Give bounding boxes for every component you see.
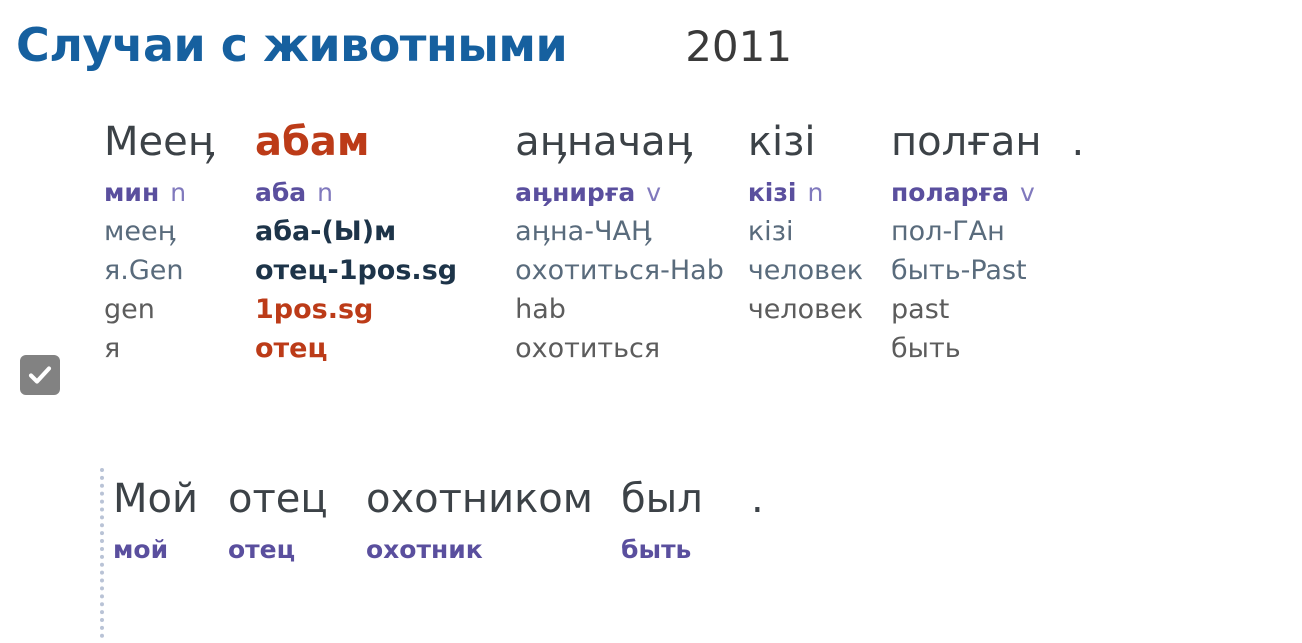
igt-translation: я — [104, 331, 215, 370]
igt-morphemes: мееӊ — [104, 214, 215, 253]
free-translation-token[interactable]: отец — [228, 468, 366, 530]
free-translation-token[interactable]: Мой — [113, 468, 228, 530]
igt-tag: past — [891, 292, 1041, 331]
igt-lemma-row[interactable]: мин n — [104, 176, 215, 214]
free-translation-token: . — [751, 468, 764, 530]
igt-pos-tag[interactable]: v — [1020, 176, 1035, 210]
check-icon — [27, 362, 53, 388]
free-translation-block: Мой отец охотником был . мой отец охотни… — [100, 468, 764, 638]
igt-translation — [748, 331, 863, 370]
igt-pos-tag[interactable]: n — [170, 176, 186, 210]
igt-surface[interactable]: кізі — [748, 118, 863, 176]
igt-lemma-row[interactable]: кізі n — [748, 176, 863, 214]
igt-column[interactable]: кізі кізі n кізі человек человек — [748, 118, 863, 370]
igt-pos-tag[interactable]: v — [646, 176, 661, 210]
row-select-checkbox[interactable] — [20, 355, 60, 395]
igt-morphemes: аба-(Ы)м — [255, 214, 457, 253]
igt-lemma-row[interactable]: аба n — [255, 176, 457, 214]
igt-pos-tag[interactable]: n — [807, 176, 823, 210]
igt-column-focused[interactable]: абам аба n аба-(Ы)м отец-1pos.sg 1pos.sg… — [255, 118, 457, 370]
igt-gloss: я.Gen — [104, 253, 215, 292]
page-title-bar: Случаи с животными 2011 — [16, 18, 792, 72]
igt-translation: быть — [891, 331, 1041, 370]
free-translation-gloss-line[interactable]: мой отец охотник быть — [113, 530, 764, 570]
igt-tag: gen — [104, 292, 215, 331]
igt-pos-tag[interactable]: n — [317, 176, 333, 210]
free-gloss-token[interactable]: охотник — [366, 530, 621, 570]
free-gloss-token[interactable]: мой — [113, 530, 228, 570]
igt-lemma[interactable]: мин — [104, 176, 159, 210]
igt-gloss: отец-1pos.sg — [255, 253, 457, 292]
igt-lemma-row[interactable]: аӊнирға v — [515, 176, 724, 214]
igt-surface: . — [1071, 118, 1084, 176]
free-gloss-token[interactable]: быть — [621, 530, 691, 570]
igt-surface[interactable]: Мееӊ — [104, 118, 215, 176]
igt-gloss: человек — [748, 253, 863, 292]
igt-surface[interactable]: полған — [891, 118, 1041, 176]
free-translation-token[interactable]: был — [621, 468, 751, 530]
igt-tag: 1pos.sg — [255, 292, 457, 331]
igt-column[interactable]: Мееӊ мин n мееӊ я.Gen gen я — [104, 118, 215, 370]
igt-morphemes: аӊна-ЧАӉ — [515, 214, 724, 253]
page-title: Случаи с животными — [16, 18, 567, 72]
igt-column[interactable]: аӊначаӊ аӊнирға v аӊна-ЧАӉ охотиться-Hab… — [515, 118, 724, 370]
igt-column-punctuation: . — [1071, 118, 1084, 176]
interlinear-glossed-text: Мееӊ мин n мееӊ я.Gen gen я абам аба n а… — [104, 118, 1084, 370]
igt-lemma[interactable]: кізі — [748, 176, 797, 210]
page-year: 2011 — [685, 22, 792, 71]
free-translation-surface-line[interactable]: Мой отец охотником был . — [113, 468, 764, 530]
igt-lemma[interactable]: поларға — [891, 176, 1009, 210]
igt-surface[interactable]: абам — [255, 118, 457, 176]
igt-gloss: охотиться-Hab — [515, 253, 724, 292]
igt-column[interactable]: полған поларға v пол-ГАн быть-Past past … — [891, 118, 1041, 370]
igt-lemma-row[interactable]: поларға v — [891, 176, 1041, 214]
igt-lemma[interactable]: аӊнирға — [515, 176, 635, 210]
igt-morphemes: кізі — [748, 214, 863, 253]
free-translation-token[interactable]: охотником — [366, 468, 621, 530]
igt-surface[interactable]: аӊначаӊ — [515, 118, 724, 176]
igt-gloss: быть-Past — [891, 253, 1041, 292]
igt-tag: человек — [748, 292, 863, 331]
igt-lemma[interactable]: аба — [255, 176, 306, 210]
igt-translation: отец — [255, 331, 457, 370]
igt-translation: охотиться — [515, 331, 724, 370]
free-gloss-token[interactable]: отец — [228, 530, 366, 570]
igt-morphemes: пол-ГАн — [891, 214, 1041, 253]
igt-tag: hab — [515, 292, 724, 331]
